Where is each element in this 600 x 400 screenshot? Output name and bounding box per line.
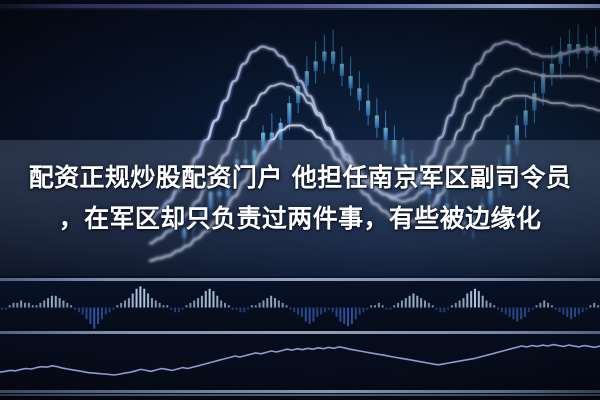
headline-text: 配资正规炒股配资门户 他担任南京军区副司令员 ，在军区却只负责过两件事，有些被边…: [0, 157, 600, 239]
sub-index-line-series: [0, 345, 600, 375]
sub-index-svg: [0, 334, 600, 392]
panel-divider-bottom-secondary: [0, 394, 600, 396]
headline-line-1: 配资正规炒股配资门户 他担任南京军区副司令员: [29, 163, 572, 192]
panel-divider-upper: [0, 278, 600, 281]
stock-banner-image: 配资正规炒股配资门户 他担任南京军区副司令员 ，在军区却只负责过两件事，有些被边…: [0, 0, 600, 400]
macd-bar-series: [1, 286, 599, 328]
macd-histogram-panel: [0, 281, 600, 332]
panel-divider-bottom: [0, 390, 600, 393]
macd-svg: [0, 281, 600, 332]
top-accent-rule-secondary: [0, 8, 600, 10]
panel-divider-lower: [0, 331, 600, 334]
headline-line-2: ，在军区却只负责过两件事，有些被边缘化: [0, 198, 600, 239]
sub-index-line-panel: [0, 334, 600, 392]
